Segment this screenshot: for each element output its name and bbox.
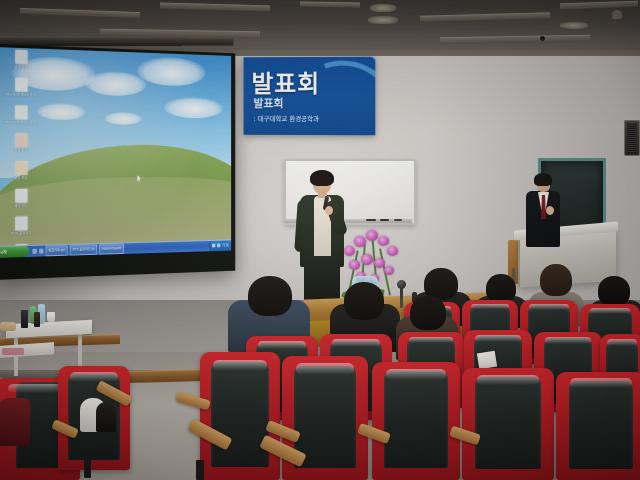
seat-highlight [477,375,540,385]
seat-highlight [332,339,381,347]
desktop-icon-list[interactable]: 내 컴퓨터 Microsoft Word 문서 Microsoft Excel … [0,49,42,258]
orchid-flower [354,236,366,247]
desktop-icon-label: 2009 결과보고 [2,231,40,236]
speaker-mesh [627,123,637,153]
dark-object-on-seat [96,402,116,432]
seat-highlight [570,378,631,388]
hair [534,173,552,186]
quick-launch-icon[interactable] [32,248,37,253]
taskbar-button[interactable]: 발표자료.ppt [46,244,68,255]
head [248,276,292,316]
ceiling-light-fixture [560,1,638,10]
orchid-flower [374,258,385,268]
desktop-icon[interactable]: Microsoft Word 문서 [2,77,40,97]
orchid-flower [344,246,355,256]
auditorium-seat[interactable] [200,352,280,480]
document-icon [15,216,27,230]
desktop-icon-label: 알집 파일 [2,176,40,180]
desktop-icon[interactable]: 내 컴퓨터 [2,49,40,69]
recessed-ceiling-light [370,4,396,12]
head [598,276,630,306]
taskbar-button[interactable]: Adobe Reader [99,243,124,254]
desktop-icon[interactable]: 발표자료 [2,189,40,208]
folder-icon [15,189,27,203]
head [540,264,572,296]
ceiling-light-fixture [440,35,590,45]
ceiling-light-fixture [20,8,140,18]
desktop-icon[interactable]: Microsoft Excel 문서 [2,105,40,124]
seat-highlight [607,339,637,346]
orchid-flower [387,246,398,256]
desktop-icon-label: Microsoft Excel 문서 [2,120,40,124]
orchid-flower [361,254,373,265]
head [486,274,516,303]
desktop-icon-label: Microsoft Word 문서 [2,92,40,97]
seat-highlight [296,363,354,374]
desktop-icon[interactable]: 알집 파일 [2,161,40,180]
seat-panel [475,377,541,469]
projected-desktop[interactable]: 내 컴퓨터 Microsoft Word 문서 Microsoft Excel … [0,47,231,258]
marker[interactable] [394,219,402,221]
auditorium-seat[interactable] [372,362,460,480]
recessed-ceiling-light [368,16,398,24]
seat-highlight [529,304,568,310]
presenter-trousers [304,258,340,302]
archive-file-icon [15,161,27,175]
pink-item-on-table [2,348,24,355]
cloud [165,97,223,118]
seat-highlight [475,335,521,342]
handout-paper [477,351,497,370]
projection-screen[interactable]: 내 컴퓨터 Microsoft Word 문서 Microsoft Excel … [0,44,235,280]
tray-icon[interactable] [212,244,215,248]
desktop-icon-label: 내 컴퓨터 [2,64,40,69]
word-document-icon [15,78,27,92]
ceiling-light-fixture [160,3,270,12]
marker[interactable] [380,219,389,221]
paper-cup [47,312,55,322]
start-button[interactable]: 시작 [0,246,29,258]
desktop-icon-label: 한글 문서 [2,148,40,152]
orchid-flower [378,236,389,246]
seat-panel [384,371,447,468]
seat-leg [196,460,204,480]
orchid-flower [349,260,360,270]
table-microphone-stand [400,286,403,308]
quick-launch-icon[interactable] [39,248,44,253]
coffee-can [21,310,28,328]
event-banner: 발표회 발표회 : 대구대학교 환경공학과 [244,57,376,136]
banner-title: 발표회 [251,71,320,97]
hangul-document-icon [15,133,27,147]
taskbar-button[interactable]: PPT 슬라이드 쇼 [70,244,97,255]
head [344,282,384,320]
auditorium-seat[interactable] [556,372,640,480]
seat-highlight [70,372,119,381]
seat-panel [569,381,634,470]
cloud [37,103,86,120]
seated-person-shoulder [0,398,30,446]
snack-item [0,322,16,331]
seat-highlight [590,308,631,314]
wall-speaker [624,120,640,156]
desktop-icon-label: 발표자료 [2,203,40,208]
desktop-icon[interactable]: 2009 결과보고 [2,216,40,236]
seat-highlight [545,337,591,344]
seat-highlight [471,304,509,310]
system-tray[interactable]: 가 일 [210,240,231,251]
tray-icon[interactable] [217,243,220,247]
ceiling-light-fixture [420,12,550,21]
hand [325,206,333,215]
hand [546,206,554,215]
ceiling-sensor [540,36,545,41]
orchid-flower [366,230,378,241]
seat-highlight [213,360,267,372]
marker[interactable] [366,219,376,221]
lecture-hall-photo: 내 컴퓨터 Microsoft Word 문서 Microsoft Excel … [0,0,640,480]
recessed-ceiling-light [560,22,588,29]
seat-panel [211,362,269,467]
ceiling-sprinkler [612,10,622,19]
seat-leg [84,452,91,478]
seat-highlight [258,341,307,349]
head [410,296,446,330]
seat-highlight [409,337,454,344]
banner-department: : 대구대학교 환경공학과 [253,115,319,123]
ceiling-light-fixture [300,1,360,7]
desktop-icon[interactable]: 한글 문서 [2,133,40,152]
seat-highlight [386,369,446,380]
coffee-can [34,312,40,327]
ceiling-light-fixture [100,29,260,39]
auditorium-seat[interactable] [462,368,554,480]
my-computer-icon [15,50,27,64]
banner-subtitle: 발표회 [253,98,283,110]
tray-clock: 가 일 [222,240,228,250]
table-microphone [397,280,406,289]
cloud [105,112,142,125]
hair [310,170,334,186]
excel-document-icon [15,105,27,119]
orchid-flower [384,266,394,275]
